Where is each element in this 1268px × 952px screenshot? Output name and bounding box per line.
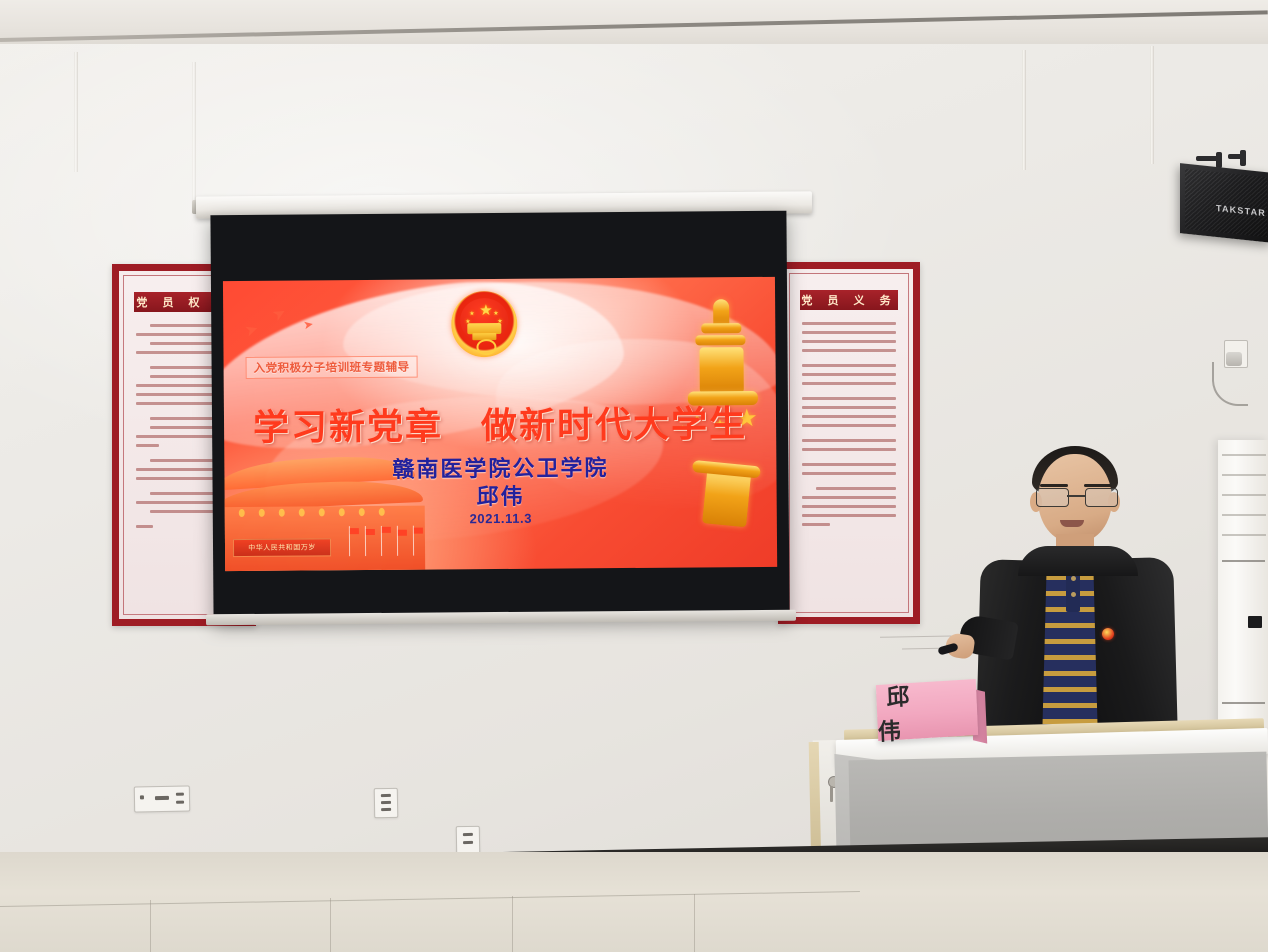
shirt-button	[1071, 592, 1076, 597]
slide-presenter-name: 邱伟	[225, 477, 777, 513]
floor-tile-seam	[694, 894, 695, 952]
wall-conduit	[1022, 50, 1026, 170]
poster-heading-bar: 党 员 义 务	[800, 290, 898, 310]
ac-display-panel[interactable]	[1248, 616, 1262, 628]
eyeglasses	[1036, 488, 1116, 506]
floor-tile-seam	[150, 900, 151, 952]
floor-tile-seam	[512, 896, 513, 952]
name-card-text: 邱 伟	[876, 673, 979, 747]
eyebrow-left	[1040, 484, 1068, 487]
wall-outlet-center[interactable]	[374, 788, 399, 818]
mouth	[1060, 520, 1084, 527]
name-card[interactable]: 邱 伟	[876, 679, 978, 741]
wall-conduit	[74, 52, 78, 172]
poster-body-text-lines	[802, 322, 896, 532]
wall-outlet-panel-left[interactable]	[134, 786, 190, 813]
lectern-key[interactable]	[830, 786, 833, 802]
party-emblem-pin	[1102, 628, 1114, 640]
projection-screen: ➤ ➤ ➤ ★ ★ ★ ★ ★	[210, 211, 789, 622]
gate-plaque-text: 中华人民共和国万岁	[248, 542, 316, 553]
poster-party-member-obligations: 党 员 义 务	[778, 262, 920, 624]
takstar-speaker: TAKSTAR	[1180, 163, 1268, 243]
poster-heading-text: 党 员 义 务	[801, 292, 896, 308]
slide-doves: ➤ ➤ ➤	[241, 304, 351, 351]
floor-tile-seam	[330, 898, 331, 952]
slide-banner-label: 入党积极分子培训班专题辅导	[246, 356, 418, 379]
shirt-button	[1071, 576, 1076, 581]
classroom-photo: 党 员 权 利 党 员 义 务	[0, 0, 1268, 952]
wall-outlet-right-low[interactable]	[456, 826, 480, 854]
wall-conduit	[192, 62, 196, 202]
slide-main-title: 学习新党章 做新时代大学生	[224, 395, 776, 451]
jacket-hood	[1018, 546, 1138, 576]
presentation-slide: ➤ ➤ ➤ ★ ★ ★ ★ ★	[223, 277, 777, 571]
poster-inner-panel: 党 员 义 务	[789, 273, 909, 613]
gate-plaque: 中华人民共和国万岁	[233, 538, 331, 557]
speaker-grille	[1185, 169, 1267, 238]
eyebrow-right	[1084, 484, 1112, 487]
wall-conduit	[1150, 46, 1154, 164]
national-emblem-icon: ★ ★ ★ ★ ★	[451, 291, 518, 358]
